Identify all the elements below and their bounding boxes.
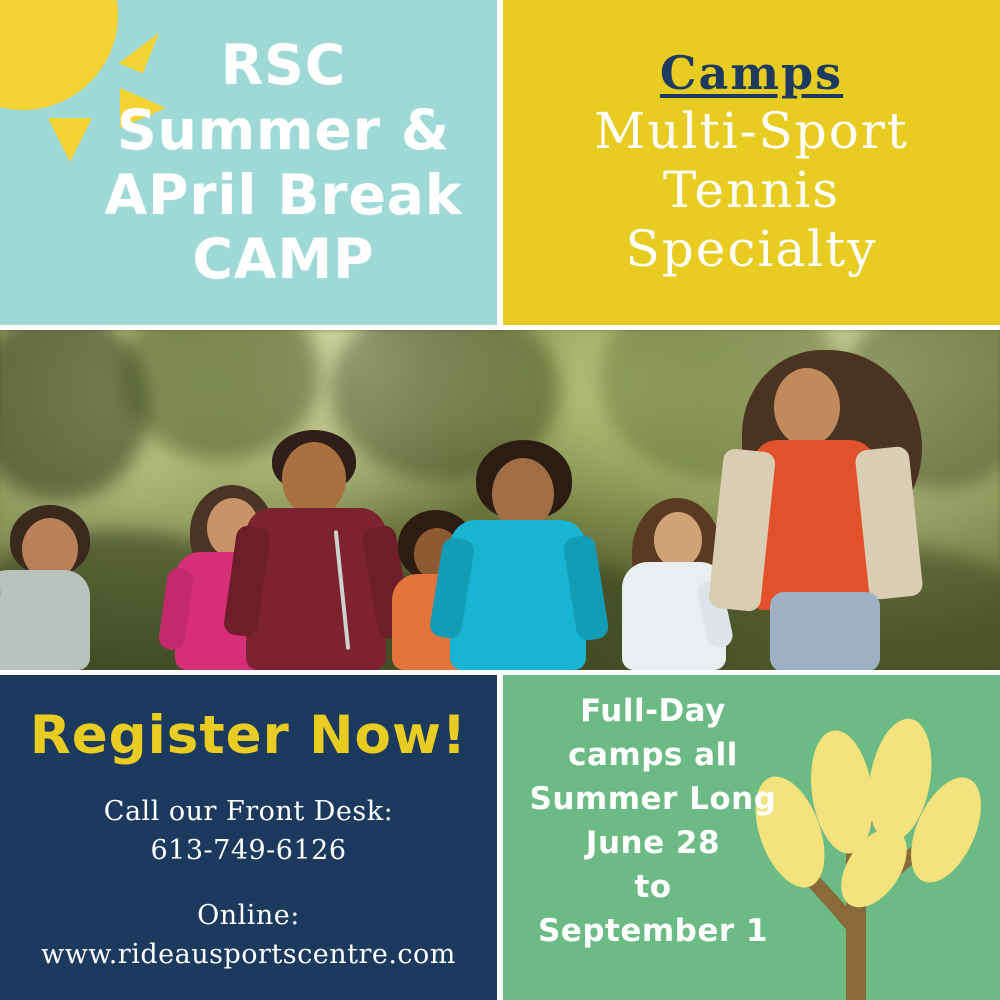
camp-title: RSC Summer & APril Break CAMP: [35, 33, 463, 293]
dates-line-2: camps all: [503, 733, 803, 777]
children-running-outdoors-photo: [0, 330, 1000, 670]
camp-title-line-3: APril Break: [105, 163, 463, 228]
online-label: Online:: [197, 896, 300, 935]
camp-title-line-2: Summer &: [105, 98, 463, 163]
camp-type-specialty: Specialty: [626, 220, 878, 279]
front-desk-label: Call our Front Desk:: [104, 792, 393, 831]
camp-type-multi-sport: Multi-Sport: [594, 102, 909, 161]
camp-title-line-1: RSC: [105, 33, 463, 98]
dates-line-5: to: [503, 865, 803, 909]
register-now-heading: Register Now!: [30, 705, 467, 766]
camps-heading: Camps: [660, 46, 843, 100]
promotional-poster: RSC Summer & APril Break CAMP Camps Mult…: [0, 0, 1000, 1000]
phone-number[interactable]: 613-749-6126: [150, 831, 346, 870]
dates-line-6: September 1: [503, 909, 803, 953]
camps-list-panel: Camps Multi-Sport Tennis Specialty: [503, 0, 1000, 325]
dates-line-3: Summer Long: [503, 777, 803, 821]
camp-type-tennis: Tennis: [663, 161, 840, 220]
register-panel: Register Now! Call our Front Desk: 613-7…: [0, 675, 497, 1000]
website-url[interactable]: www.rideausportscentre.com: [41, 935, 456, 974]
camp-title-line-4: CAMP: [105, 227, 463, 292]
camp-title-panel: RSC Summer & APril Break CAMP: [0, 0, 497, 325]
dates-line-4: June 28: [503, 821, 803, 865]
camp-dates-text: Full-Day camps all Summer Long June 28 t…: [503, 689, 803, 953]
camp-dates-panel: Full-Day camps all Summer Long June 28 t…: [503, 675, 1000, 1000]
dates-line-1: Full-Day: [503, 689, 803, 733]
